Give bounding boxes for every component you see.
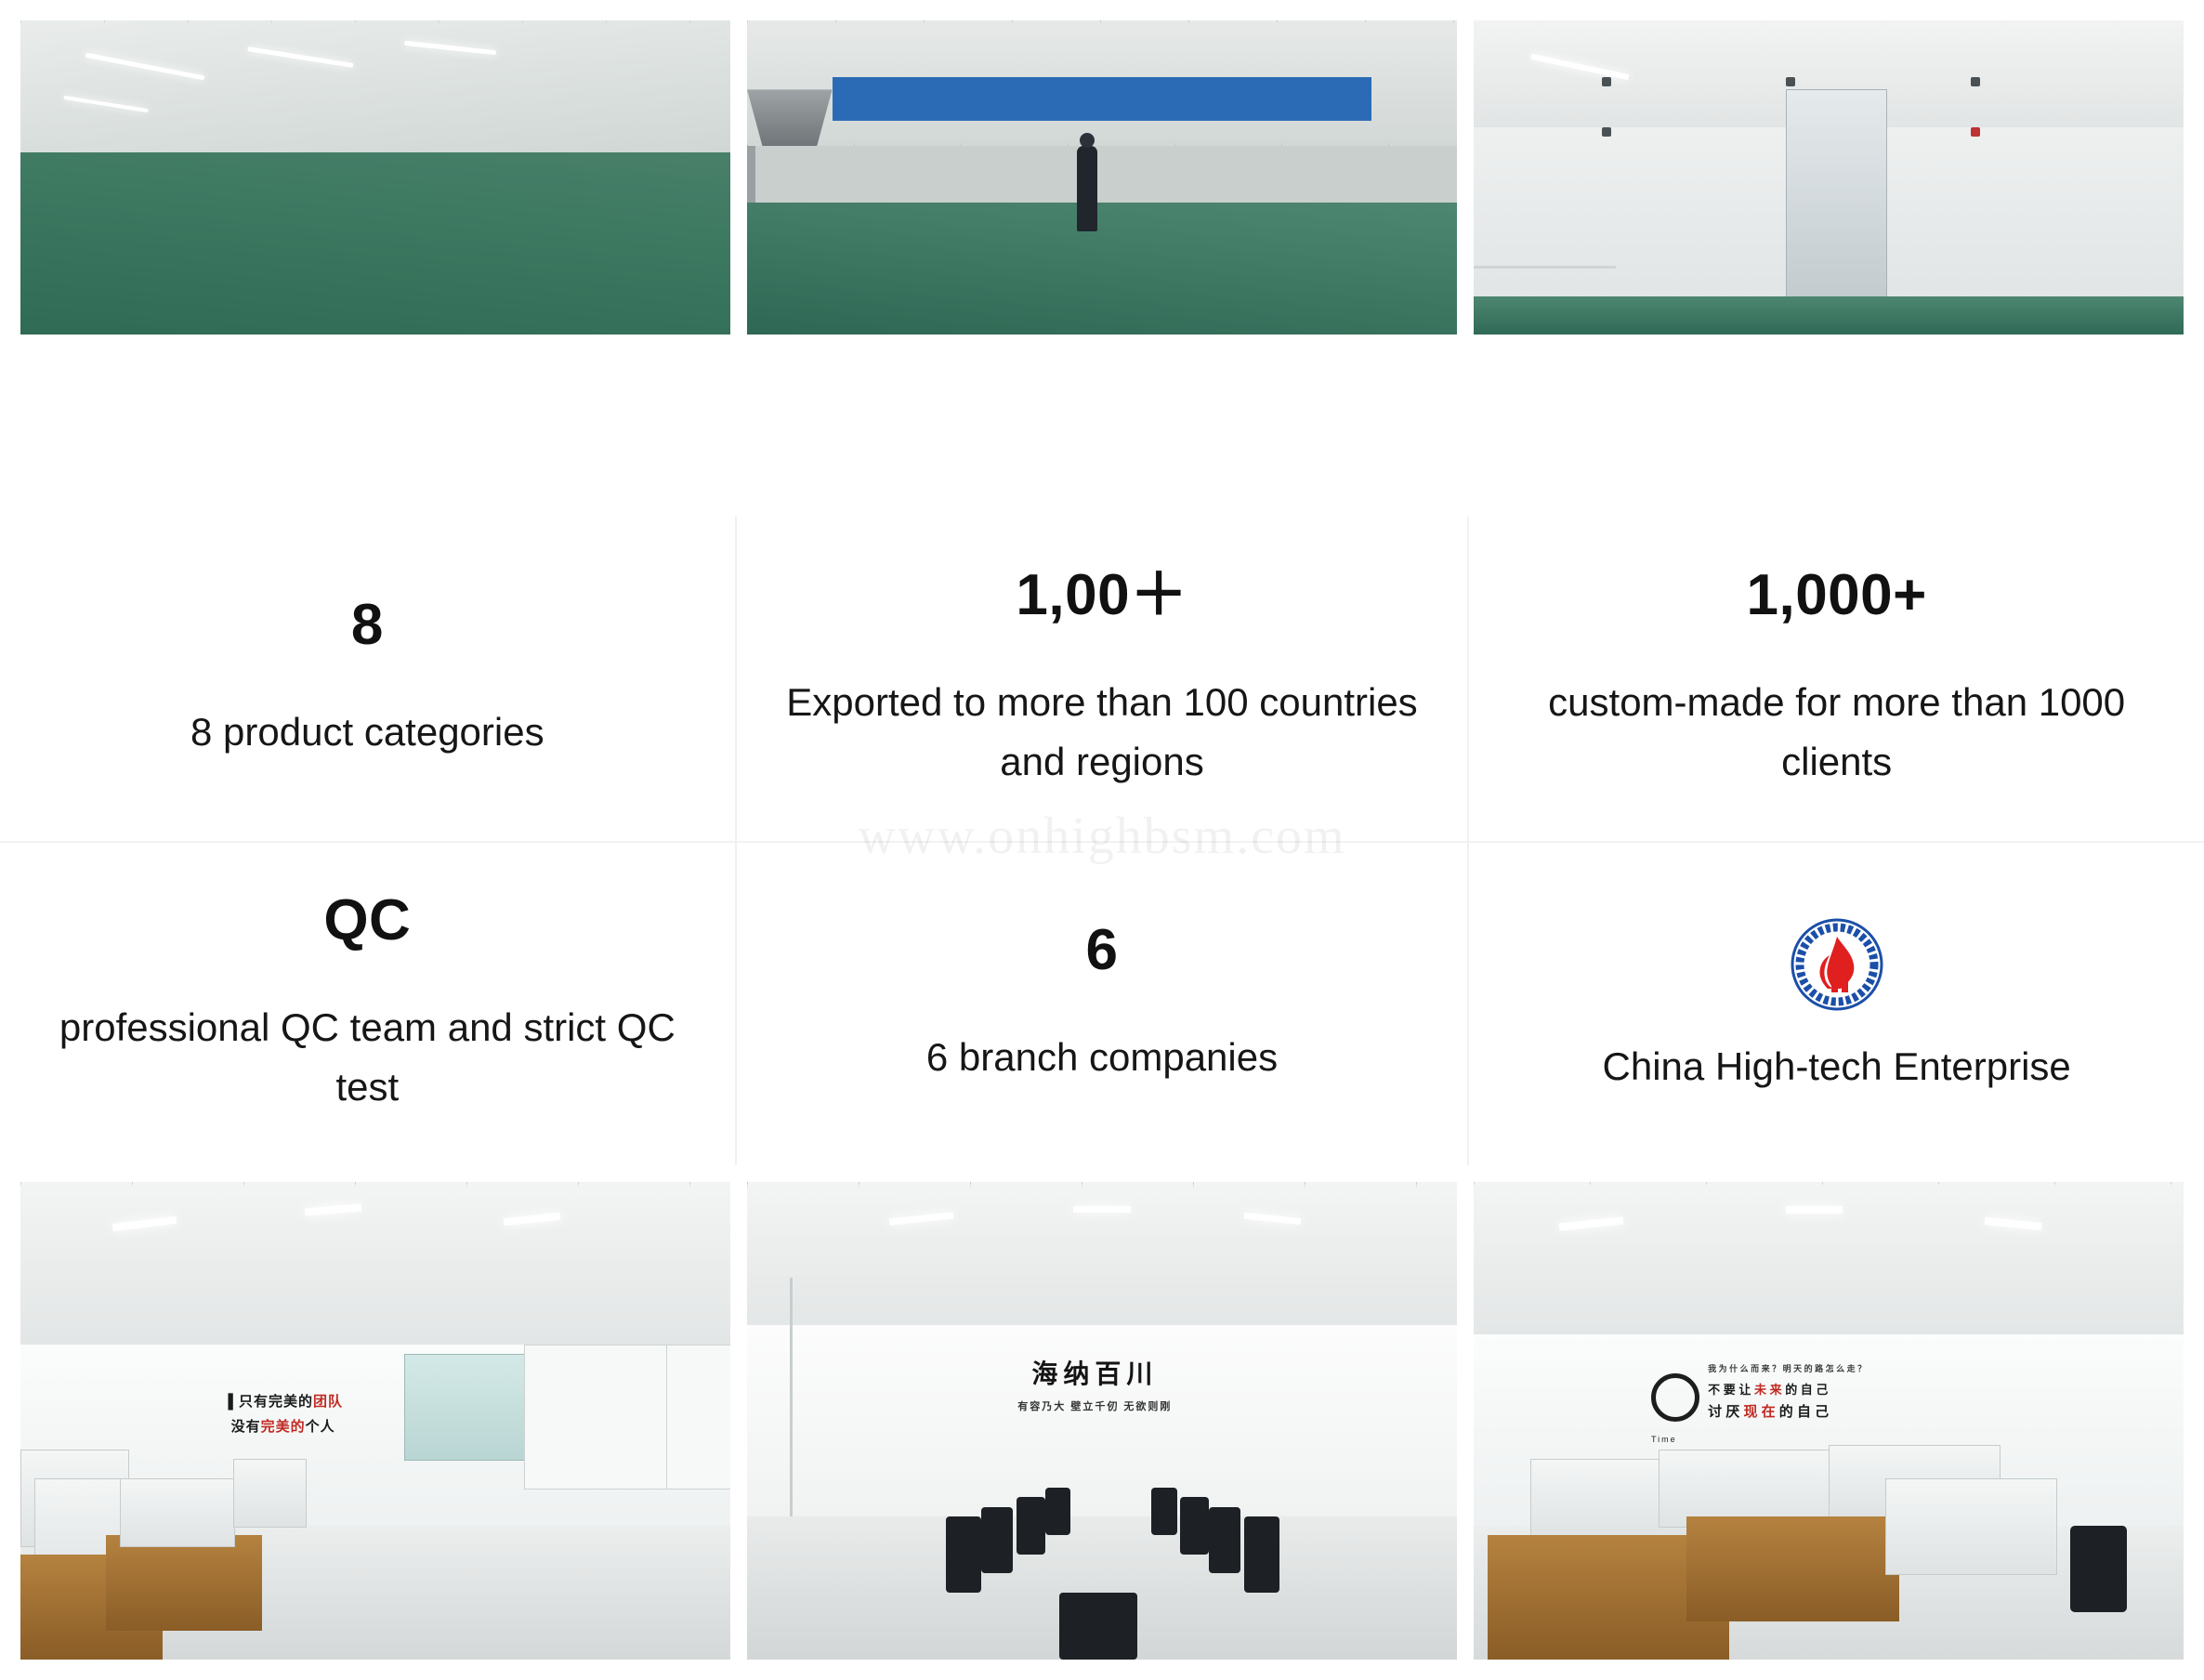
photo-tunnel-oven-line	[747, 20, 1457, 335]
stat-value: 1,000+	[1746, 567, 1926, 624]
stat-description: China High-tech Enterprise	[1603, 1037, 2071, 1096]
stat-cell-china-high-tech-enterprise: China High-tech Enterprise	[1469, 841, 2204, 1165]
stat-cell-countries-exported: 1,00＋ Exported to more than 100 countrie…	[735, 517, 1470, 841]
stat-description: professional QC team and strict QC test	[48, 998, 687, 1117]
stat-value: 6	[1086, 922, 1119, 979]
stat-description: 8 product categories	[190, 702, 544, 762]
photo-open-plan-office: ▐ 只有完美的团队 没有完美的个人	[20, 1182, 730, 1660]
company-stats-grid: 8 8 product categories 1,00＋ Exported to…	[0, 517, 2204, 1165]
china-high-tech-enterprise-logo	[1785, 912, 1889, 1017]
factory-photo-row-top	[20, 20, 2184, 335]
photo-production-workshop	[20, 20, 730, 335]
stat-description: custom-made for more than 1000 clients	[1517, 673, 2156, 792]
stat-cell-branch-companies: 6 6 branch companies	[735, 841, 1470, 1165]
stat-cell-product-categories: 8 8 product categories	[0, 517, 735, 841]
photo-meeting-room: 海纳百川 有容乃大 壁立千仞 无欲则刚	[747, 1182, 1457, 1660]
stat-cell-qc-team: QC professional QC team and strict QC te…	[0, 841, 735, 1165]
company-capability-page: 8 8 product categories 1,00＋ Exported to…	[0, 0, 2204, 1680]
office-photo-row-bottom: ▐ 只有完美的团队 没有完美的个人	[20, 1182, 2184, 1660]
stat-value: 8	[351, 597, 384, 654]
stat-description: 6 branch companies	[926, 1028, 1278, 1087]
stat-description: Exported to more than 100 countries and …	[785, 673, 1420, 792]
stat-value: 1,00＋	[1016, 567, 1187, 624]
stat-value: QC	[323, 892, 411, 950]
photo-office-workstations: Time 我 为 什 么 而 来 ？ 明 天 的 路 怎 么 走 ？ 不 要 让…	[1474, 1182, 2184, 1660]
photo-coating-machine	[1474, 20, 2184, 335]
stat-cell-custom-made-clients: 1,000+ custom-made for more than 1000 cl…	[1469, 517, 2204, 841]
